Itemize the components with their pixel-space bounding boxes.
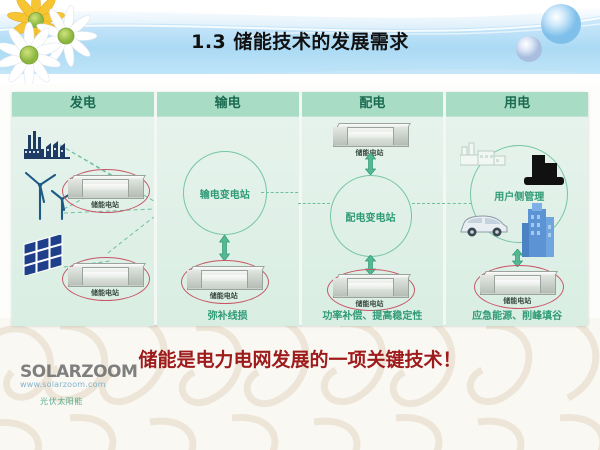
column-body-generation: 储能电站 储能电站: [12, 117, 154, 326]
column-generation: 发电: [12, 92, 154, 325]
column-body-consumption: 用户侧管理: [446, 117, 588, 326]
bidirectional-arrow-icon: [219, 235, 230, 261]
storage-left-face: [68, 179, 83, 197]
factory-icon: [460, 139, 506, 167]
storage-station-transmission: 储能电站: [187, 266, 261, 292]
storage-left-face: [187, 270, 202, 288]
column-body-distribution: 储能电站 配电变电站: [302, 117, 444, 326]
bidirectional-arrow-icon: [365, 153, 376, 175]
node-circle-distribution: 配电变电站: [330, 175, 412, 257]
link-line-transmission-right: [261, 192, 303, 193]
diagram-panel: 发电: [12, 92, 588, 325]
column-consumption: 用电 用户侧管理: [443, 92, 588, 325]
storage-left-face: [480, 275, 495, 293]
link-line-consumption-left: [442, 203, 472, 204]
column-body-transmission: 输电变电站 储能电站 弥补线损: [157, 117, 299, 326]
column-transmission: 输电 输电变电站 储: [154, 92, 299, 325]
storage-left-face: [333, 278, 348, 296]
node-label-transmission: 输电变电站: [184, 186, 266, 201]
storage-station-distribution-bottom: 储能电站: [333, 274, 407, 300]
diagram-columns: 发电: [12, 92, 588, 325]
node-label-distribution: 配电变电站: [331, 209, 411, 224]
storage-station-distribution-top: 储能电站: [333, 123, 407, 149]
column-header-transmission: 输电: [157, 92, 299, 117]
column-header-consumption: 用电: [446, 92, 588, 117]
storage-left-face: [333, 127, 348, 145]
ornament-background: [0, 318, 600, 450]
ornament-pattern-icon: [0, 318, 600, 450]
column-footer-distribution: 功率补偿、提高稳定性: [302, 307, 444, 322]
slide-canvas: 1.3 储能技术的发展需求 发电: [0, 0, 600, 450]
storage-station-consumption: 储能电站: [480, 271, 554, 297]
car-icon: [458, 213, 510, 239]
link-line-distribution-left: [298, 203, 330, 204]
storage-right-face: [128, 267, 143, 285]
storage-right-face: [128, 179, 143, 197]
column-footer-transmission: 弥补线损: [157, 307, 299, 322]
storage-station-label: 储能电站: [187, 291, 261, 301]
power-plant-icon: [24, 129, 72, 161]
storage-station-generation-bottom: 储能电站: [68, 263, 142, 289]
storage-station-label: 储能电站: [68, 288, 142, 298]
node-label-consumption: 用户侧管理: [471, 188, 567, 203]
page-title: 1.3 储能技术的发展需求: [0, 27, 600, 54]
storage-right-face: [247, 270, 262, 288]
storage-right-face: [393, 127, 408, 145]
column-header-distribution: 配电: [302, 92, 444, 117]
office-building-icon: [522, 155, 566, 187]
storage-right-face: [540, 275, 555, 293]
column-footer-consumption: 应急能源、削峰填谷: [446, 307, 588, 322]
column-header-generation: 发电: [12, 92, 154, 117]
storage-right-face: [393, 278, 408, 296]
conclusion-text: 储能是电力电网发展的一项关键技术！: [0, 345, 600, 372]
node-circle-transmission: 输电变电站: [183, 151, 267, 235]
storage-left-face: [68, 267, 83, 285]
storage-station-label: 储能电站: [480, 296, 554, 306]
storage-station-generation-top: 储能电站: [68, 175, 142, 201]
column-distribution: 配电 储能电站 配电变电站: [299, 92, 444, 325]
tower-building-icon: [522, 203, 558, 257]
slide-header: 1.3 储能技术的发展需求: [0, 0, 600, 84]
storage-station-label: 储能电站: [68, 200, 142, 210]
